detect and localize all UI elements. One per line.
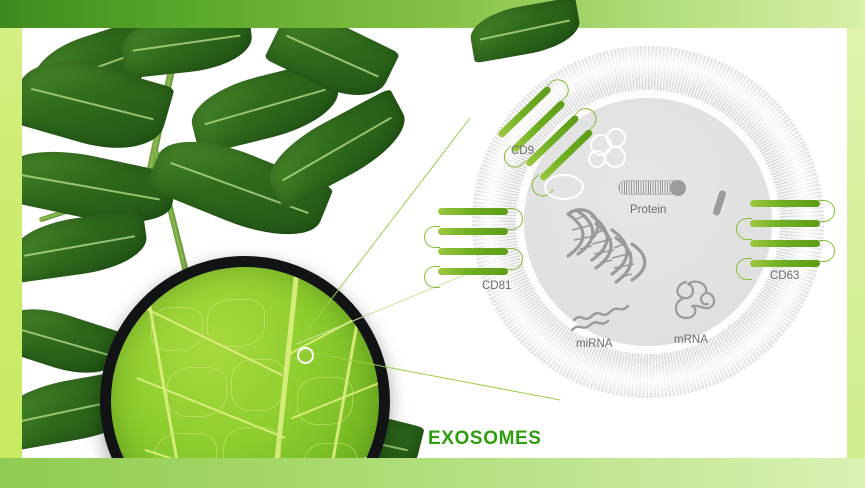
exosome-diagram: CD9 CD81 CD63 bbox=[448, 22, 848, 422]
leaf-cell bbox=[151, 307, 203, 351]
left-border-bar bbox=[0, 28, 22, 458]
cd63-rod-3 bbox=[750, 240, 820, 247]
cd81-rod-2 bbox=[438, 228, 508, 235]
cd81-label: CD81 bbox=[482, 280, 511, 292]
top-border-bar bbox=[0, 0, 865, 28]
cd63-tetraspanin[interactable] bbox=[736, 192, 865, 272]
cd81-loop-4 bbox=[424, 266, 440, 288]
mrna-icon bbox=[666, 276, 724, 332]
vesicle-bud bbox=[544, 174, 584, 200]
leaf-cell bbox=[231, 359, 285, 411]
cd63-label: CD63 bbox=[770, 270, 799, 282]
cd9-label: CD9 bbox=[511, 145, 534, 157]
leaf-cell bbox=[167, 367, 227, 417]
poster-canvas: CD9 CD81 CD63 bbox=[0, 0, 865, 488]
sample-point-marker[interactable] bbox=[297, 347, 314, 364]
cd81-loop-2 bbox=[507, 248, 523, 270]
cd63-loop-1 bbox=[819, 200, 835, 222]
leaf-cell bbox=[207, 299, 265, 347]
cd63-loop-3 bbox=[736, 218, 752, 240]
vesicle-cluster-c bbox=[604, 146, 626, 168]
cd63-loop-2 bbox=[819, 240, 835, 262]
protein-cap-icon bbox=[670, 180, 686, 196]
leaf-cell bbox=[297, 377, 353, 425]
vesicle-cluster-d bbox=[588, 150, 606, 168]
cd9-loop-2 bbox=[574, 103, 601, 130]
mirna-label: miRNA bbox=[576, 338, 612, 350]
leaf bbox=[119, 28, 254, 79]
vesicle-cluster-b bbox=[606, 128, 626, 148]
cd81-rod-1 bbox=[438, 208, 508, 215]
cd63-rod-4 bbox=[750, 260, 820, 267]
dna-double-helix-icon bbox=[562, 208, 662, 288]
cd81-tetraspanin[interactable] bbox=[424, 200, 554, 280]
cd81-rod-3 bbox=[438, 248, 508, 255]
cd9-rod-3 bbox=[525, 114, 580, 168]
cd63-rod-2 bbox=[750, 220, 820, 227]
mirna-icon bbox=[570, 294, 632, 334]
cd63-rod-1 bbox=[750, 200, 820, 207]
page-title: EXOSOMES bbox=[428, 428, 542, 450]
cd63-loop-4 bbox=[736, 258, 752, 280]
cd9-loop-1 bbox=[547, 75, 574, 102]
mrna-label: mRNA bbox=[674, 334, 708, 346]
cd81-rod-4 bbox=[438, 268, 508, 275]
bottom-border-bar bbox=[0, 458, 865, 488]
cd81-loop-1 bbox=[507, 208, 523, 230]
right-border-bar bbox=[847, 28, 865, 458]
cd81-loop-3 bbox=[424, 226, 440, 248]
